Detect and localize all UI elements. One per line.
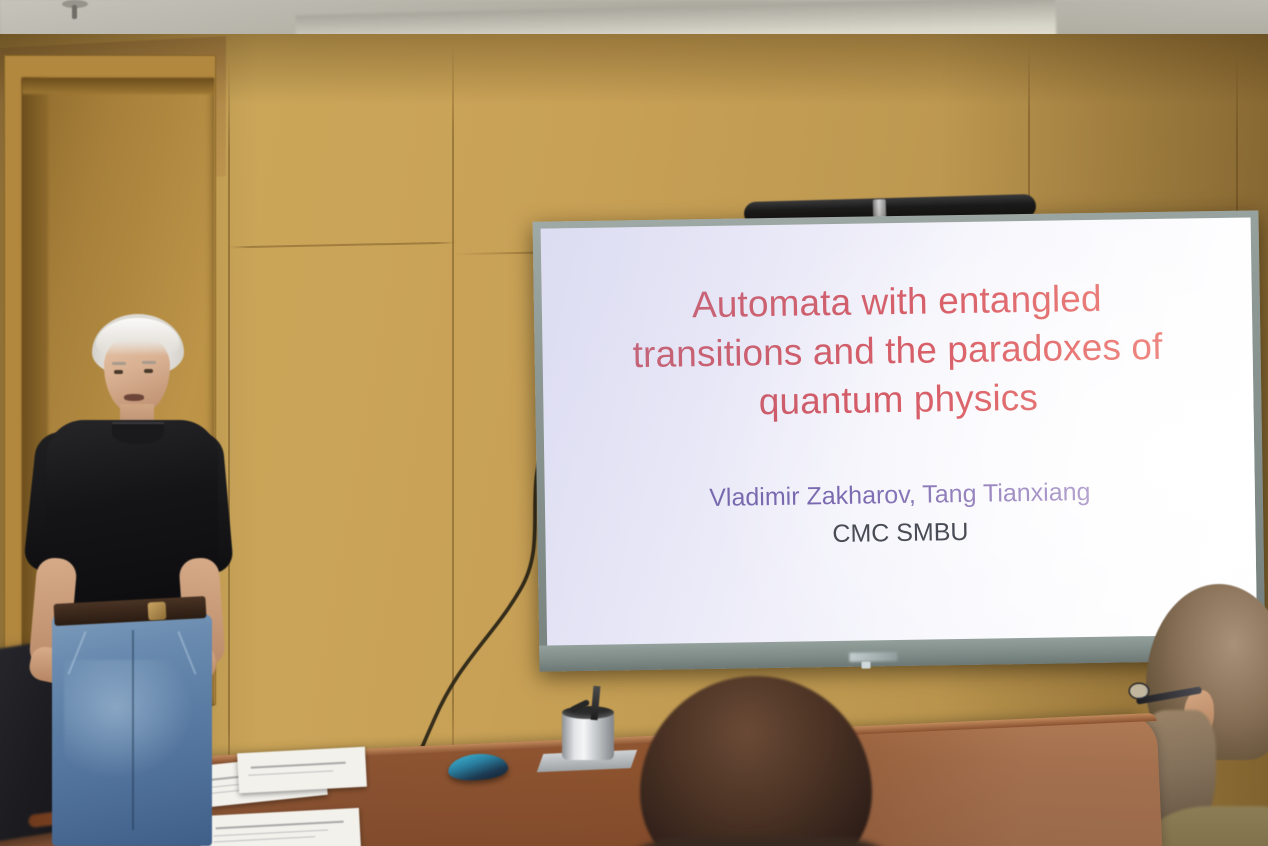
display-ir-receiver-icon bbox=[861, 661, 870, 668]
presenter-brow bbox=[112, 362, 126, 365]
slide-organization: CMC SMBU bbox=[832, 515, 969, 551]
glasses-lens-icon bbox=[1130, 684, 1148, 698]
door-head bbox=[22, 78, 214, 94]
presenter-belt-buckle bbox=[148, 602, 167, 621]
wall-seam bbox=[452, 44, 454, 794]
audience-center-hair bbox=[640, 676, 872, 846]
presenter-standing bbox=[0, 300, 260, 846]
pen-holder bbox=[562, 712, 614, 760]
presenter-brow bbox=[142, 361, 156, 364]
ceiling-sprinkler-icon bbox=[62, 0, 88, 22]
display-brand-logo bbox=[849, 652, 897, 662]
conference-room-photo: Automata with entangled transitions and … bbox=[0, 0, 1268, 846]
presenter-jeans-seam bbox=[132, 630, 134, 830]
slide-authors: Vladimir Zakharov, Tang Tianxiang bbox=[709, 475, 1091, 515]
audience-member-center bbox=[640, 676, 872, 846]
presenter-collar bbox=[112, 422, 164, 444]
presenter-eye bbox=[114, 370, 123, 374]
slide-title: Automata with entangled transitions and … bbox=[616, 273, 1178, 429]
presenter-eye bbox=[144, 369, 153, 373]
presenter-mouth bbox=[124, 394, 144, 401]
presenter-jeans-highlight bbox=[64, 660, 194, 780]
